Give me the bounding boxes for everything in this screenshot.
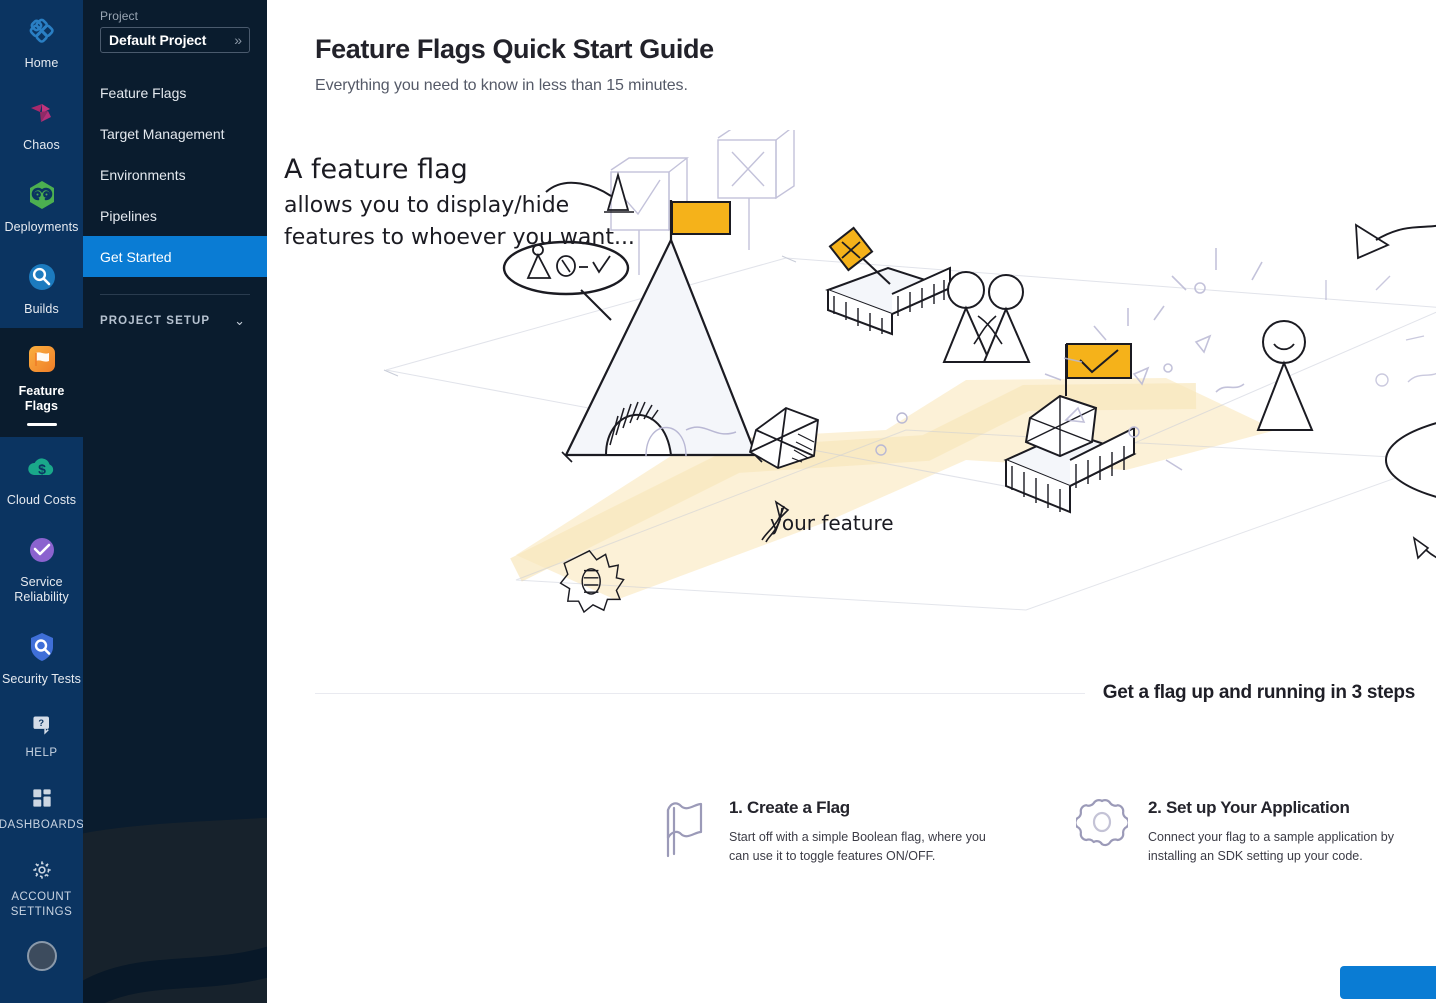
nav-section-label: PROJECT SETUP xyxy=(100,315,210,327)
step-create-a-flag: 1. Create a Flag Start off with a simple… xyxy=(657,798,996,866)
hero-illustration: A feature flag allows you to display/hid… xyxy=(267,130,1436,660)
main-content: Feature Flags Quick Start Guide Everythi… xyxy=(267,0,1436,1003)
rail-item-cloud-costs[interactable]: $ Cloud Costs xyxy=(0,437,83,519)
rail-item-label: Chaos xyxy=(23,138,60,153)
get-started-button[interactable]: Get Started xyxy=(1340,966,1436,999)
steps-header: Get a flag up and running in 3 steps xyxy=(315,682,1436,704)
rail-item-deployments[interactable]: Deployments xyxy=(0,164,83,246)
project-label: Project xyxy=(83,9,267,27)
step-title: 2. Set up Your Application xyxy=(1148,798,1406,818)
security-tests-icon xyxy=(24,629,60,665)
project-nav: Project Default Project » Feature Flags … xyxy=(83,0,267,1003)
svg-text:?: ? xyxy=(38,718,44,728)
sidebar-item-feature-flags[interactable]: Feature Flags xyxy=(83,72,267,113)
sidebar-item-label: Pipelines xyxy=(100,208,157,224)
gear-icon xyxy=(1076,798,1128,860)
module-rail: Home Chaos Deployments xyxy=(0,0,83,1003)
rail-item-label: HELP xyxy=(25,746,57,761)
rail-item-chaos[interactable]: Chaos xyxy=(0,82,83,164)
page-header: Feature Flags Quick Start Guide Everythi… xyxy=(267,0,1436,95)
rail-item-label: Service Reliability xyxy=(2,575,81,605)
help-icon: ? xyxy=(28,711,56,739)
svg-text:$: $ xyxy=(38,461,46,477)
rail-item-label: Builds xyxy=(24,302,59,317)
rail-item-service-reliability[interactable]: Service Reliability xyxy=(0,519,83,616)
rail-item-label: Feature Flags xyxy=(2,384,81,414)
rail-item-help[interactable]: ? HELP xyxy=(0,698,83,772)
sidebar-item-target-management[interactable]: Target Management xyxy=(83,113,267,154)
project-selector[interactable]: Default Project » xyxy=(100,27,250,53)
builds-icon xyxy=(24,259,60,295)
flag-icon xyxy=(657,798,709,860)
sidebar-item-pipelines[interactable]: Pipelines xyxy=(83,195,267,236)
avatar[interactable] xyxy=(0,941,83,971)
rail-active-underline xyxy=(27,423,57,426)
chevron-double-right-icon: » xyxy=(234,33,242,47)
feature-flag-sketch-icon: A feature flag allows you to display/hid… xyxy=(267,130,1436,660)
steps-heading: Get a flag up and running in 3 steps xyxy=(1103,682,1436,704)
step-description: Start off with a simple Boolean flag, wh… xyxy=(729,828,987,866)
flag-watermark-icon xyxy=(83,783,267,1003)
gear-icon xyxy=(29,857,55,883)
rail-item-builds[interactable]: Builds xyxy=(0,246,83,328)
nav-section-project-setup[interactable]: PROJECT SETUP ⌄ xyxy=(83,295,267,329)
step-set-up-your-application: 2. Set up Your Application Connect your … xyxy=(1076,798,1415,866)
rail-item-label: Home xyxy=(25,56,59,71)
step-description: Connect your flag to a sample applicatio… xyxy=(1148,828,1406,866)
illustration-label-your-feature: your feature xyxy=(770,511,894,535)
illustration-caption-line2: allows you to display/hide xyxy=(284,193,569,218)
rail-item-account-settings[interactable]: ACCOUNT SETTINGS xyxy=(0,844,83,931)
dashboards-icon xyxy=(29,785,55,811)
rail-item-security-tests[interactable]: Security Tests xyxy=(0,616,83,698)
chaos-icon xyxy=(24,95,60,131)
chevron-down-icon: ⌄ xyxy=(234,313,245,329)
rail-item-label: Security Tests xyxy=(2,672,81,687)
sidebar-item-label: Environments xyxy=(100,167,186,183)
app-root: Home Chaos Deployments xyxy=(0,0,1436,1003)
sidebar-item-get-started[interactable]: Get Started xyxy=(83,236,267,277)
sidebar-item-label: Feature Flags xyxy=(100,85,186,101)
illustration-caption-line3: features to whoever you want... xyxy=(284,225,635,250)
cloud-costs-icon: $ xyxy=(24,450,60,486)
rail-item-label: Cloud Costs xyxy=(7,493,76,508)
sidebar-item-label: Target Management xyxy=(100,126,225,142)
page-title: Feature Flags Quick Start Guide xyxy=(315,32,1436,66)
page-subtitle: Everything you need to know in less than… xyxy=(315,77,1436,95)
rail-item-home[interactable]: Home xyxy=(0,0,83,82)
step-title: 1. Create a Flag xyxy=(729,798,987,818)
rail-item-feature-flags[interactable]: Feature Flags xyxy=(0,328,83,437)
rail-item-label: ACCOUNT SETTINGS xyxy=(2,890,81,920)
sidebar-item-environments[interactable]: Environments xyxy=(83,154,267,195)
steps-list: 1. Create a Flag Start off with a simple… xyxy=(657,798,1415,866)
illustration-caption-line1: A feature flag xyxy=(284,154,468,185)
home-diamond-icon xyxy=(24,13,60,49)
steps-divider xyxy=(315,693,1085,694)
project-name: Default Project xyxy=(109,32,206,48)
deployments-icon xyxy=(24,177,60,213)
rail-item-label: Deployments xyxy=(4,220,78,235)
nav-list: Feature Flags Target Management Environm… xyxy=(83,72,267,277)
feature-flags-icon xyxy=(24,341,60,377)
sidebar-item-label: Get Started xyxy=(100,249,172,265)
service-reliability-icon xyxy=(24,532,60,568)
rail-item-label: DASHBOARDS xyxy=(0,818,83,833)
rail-item-dashboards[interactable]: DASHBOARDS xyxy=(0,772,83,844)
